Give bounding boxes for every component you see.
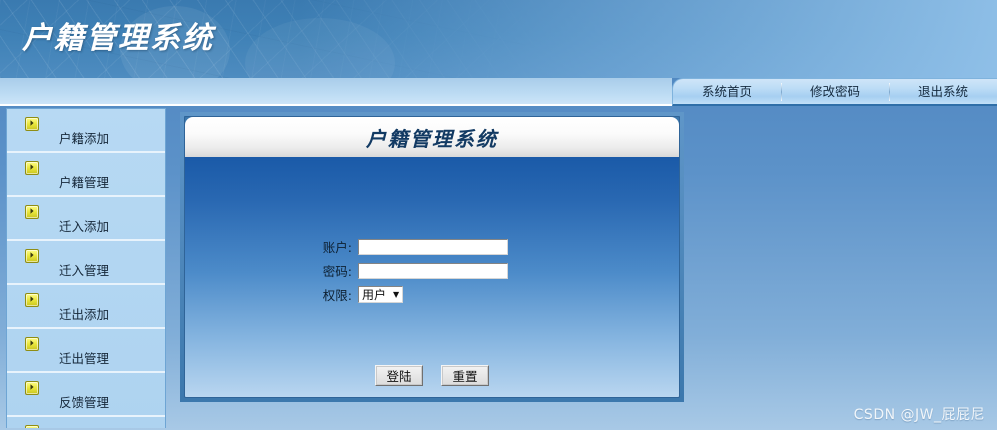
role-label: 权限: (302, 285, 352, 304)
page-header: 户籍管理系统 (0, 0, 997, 78)
account-row: 账户: (302, 237, 508, 256)
header-underline-strip (0, 78, 672, 106)
sidebar-item-label: 户籍管理 (59, 172, 109, 191)
login-panel-title: 户籍管理系统 (366, 123, 498, 152)
account-label: 账户: (302, 237, 352, 256)
sidebar-item-label: 迁入添加 (59, 216, 109, 235)
login-panel-inner: 户籍管理系统 账户: 密码: 权限: 用户 (184, 116, 680, 398)
login-button[interactable]: 登陆 (375, 365, 423, 386)
arrow-right-icon (25, 381, 39, 395)
sidebar-item-feedback-manage[interactable]: 反馈管理 (7, 373, 165, 417)
page-title: 户籍管理系统 (22, 13, 214, 57)
chevron-down-icon: ▼ (393, 291, 399, 299)
tab-change-password[interactable]: 修改密码 (781, 80, 889, 104)
sidebar-item-household-add[interactable]: 户籍添加 (7, 109, 165, 153)
sidebar-item-label: 户籍添加 (59, 128, 109, 147)
form-button-row: 登陆 重置 (185, 365, 679, 386)
tab-home[interactable]: 系统首页 (673, 80, 781, 104)
password-label: 密码: (302, 261, 352, 280)
arrow-right-icon (25, 205, 39, 219)
sidebar-item-label: 迁入管理 (59, 260, 109, 279)
sidebar-item-label: 迁出管理 (59, 348, 109, 367)
arrow-right-icon (25, 337, 39, 351)
sidebar-item-household-manage[interactable]: 户籍管理 (7, 153, 165, 197)
role-select-value: 用户 (362, 286, 386, 303)
sidebar-menu: 户籍添加 户籍管理 迁入添加 迁入管理 迁出添加 (6, 108, 166, 428)
login-panel: 户籍管理系统 账户: 密码: 权限: 用户 (180, 112, 684, 402)
top-nav-tabbar: 系统首页 修改密码 退出系统 (672, 78, 997, 106)
sidebar-item-label: 反馈管理 (59, 392, 109, 411)
sidebar-item-movein-add[interactable]: 迁入添加 (7, 197, 165, 241)
arrow-right-icon (25, 293, 39, 307)
tab-logout[interactable]: 退出系统 (889, 80, 997, 104)
reset-button[interactable]: 重置 (441, 365, 489, 386)
sidebar-item-admin-add[interactable]: 管理员添加 (7, 417, 165, 428)
arrow-right-icon (25, 161, 39, 175)
watermark-text: CSDN @JW_屁屁尼 (854, 404, 985, 424)
arrow-right-icon (25, 117, 39, 131)
sidebar-item-moveout-manage[interactable]: 迁出管理 (7, 329, 165, 373)
login-panel-body: 账户: 密码: 权限: 用户 ▼ (185, 157, 679, 397)
sidebar-item-label: 迁出添加 (59, 304, 109, 323)
arrow-right-icon (25, 425, 39, 428)
sidebar-item-movein-manage[interactable]: 迁入管理 (7, 241, 165, 285)
role-select[interactable]: 用户 ▼ (358, 286, 403, 303)
account-input[interactable] (358, 239, 508, 255)
password-row: 密码: (302, 261, 508, 280)
sidebar-item-moveout-add[interactable]: 迁出添加 (7, 285, 165, 329)
role-row: 权限: 用户 ▼ (302, 285, 403, 304)
app-root: 户籍管理系统 系统首页 修改密码 退出系统 户籍添加 户籍管理 迁入添加 (0, 0, 997, 430)
arrow-right-icon (25, 249, 39, 263)
password-input[interactable] (358, 263, 508, 279)
login-panel-titlebar: 户籍管理系统 (185, 117, 679, 157)
